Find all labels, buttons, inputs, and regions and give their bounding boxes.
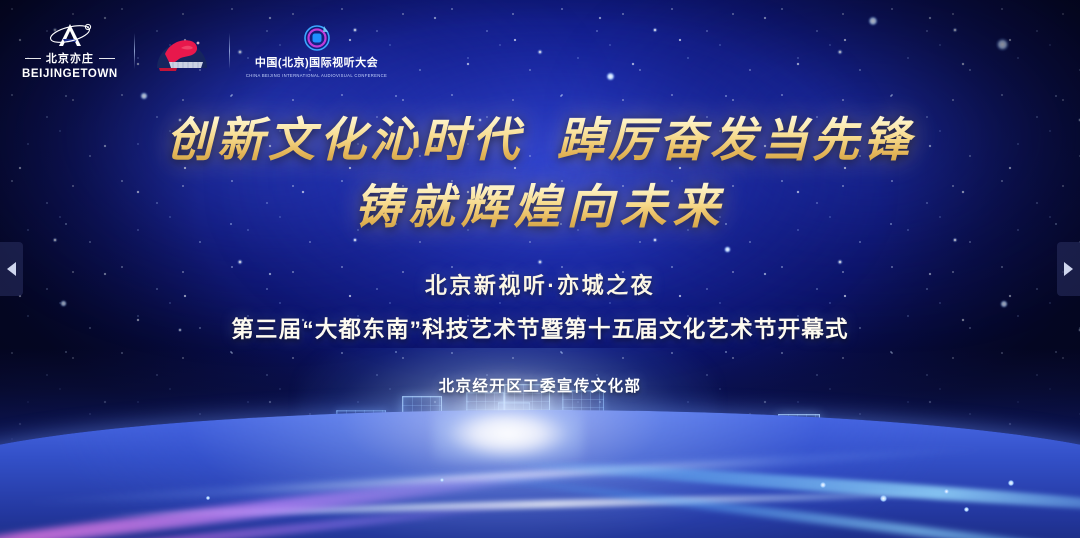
festival-emblem-icon bbox=[151, 28, 213, 74]
etown-chinese-name: 北京亦庄 bbox=[25, 50, 115, 66]
logo-festival-emblem[interactable] bbox=[151, 28, 213, 74]
subtitle-block: 北京新视听·亦城之夜 第三届“大都东南”科技艺术节暨第十五届文化艺术节开幕式 北… bbox=[0, 268, 1080, 396]
slide-content: 创新文化沁时代踔厉奋发当先锋 铸就辉煌向未来 北京新视听·亦城之夜 第三届“大都… bbox=[0, 0, 1080, 538]
logo-beijing-etown[interactable]: R 北京亦庄 BEIJINGETOWN bbox=[22, 22, 118, 80]
etown-arch-icon: R bbox=[47, 22, 93, 48]
rule-right bbox=[99, 58, 115, 59]
carousel-prev-button[interactable] bbox=[0, 242, 23, 296]
subtitle-secondary: 第三届“大都东南”科技艺术节暨第十五届文化艺术节开幕式 bbox=[0, 312, 1080, 344]
subtitle-primary: 北京新视听·亦城之夜 bbox=[0, 268, 1080, 300]
rule-left bbox=[25, 58, 41, 59]
organizer-line: 北京经开区工委宣传文化部 bbox=[0, 374, 1080, 396]
logo-divider bbox=[134, 33, 135, 69]
headline-block: 创新文化沁时代踔厉奋发当先锋 铸就辉煌向未来 bbox=[0, 108, 1080, 241]
cav-ring-icon bbox=[304, 25, 330, 51]
etown-cn-text: 北京亦庄 bbox=[46, 50, 94, 66]
chevron-left-icon bbox=[7, 262, 16, 276]
logo-cav[interactable]: 中国(北京)国际视听大会 CHINA BEIJING INTERNATIONAL… bbox=[246, 25, 387, 78]
logo-divider bbox=[229, 33, 230, 69]
carousel-next-button[interactable] bbox=[1057, 242, 1080, 296]
banner-slide: R 北京亦庄 BEIJINGETOWN bbox=[0, 0, 1080, 538]
headline-line-1a: 创新文化沁时代 bbox=[166, 115, 523, 167]
headline-line-1b: 踔厉奋发当先锋 bbox=[557, 115, 914, 167]
chevron-right-icon bbox=[1064, 262, 1073, 276]
logo-bar: R 北京亦庄 BEIJINGETOWN bbox=[22, 22, 387, 80]
headline-line-2: 铸就辉煌向未来 bbox=[0, 175, 1080, 242]
cav-chinese-name: 中国(北京)国际视听大会 bbox=[255, 54, 378, 70]
headline-line-1: 创新文化沁时代踔厉奋发当先锋 bbox=[0, 108, 1080, 175]
etown-english-name: BEIJINGETOWN bbox=[22, 68, 118, 80]
cav-english-name: CHINA BEIJING INTERNATIONAL AUDIOVISUAL … bbox=[246, 73, 387, 78]
